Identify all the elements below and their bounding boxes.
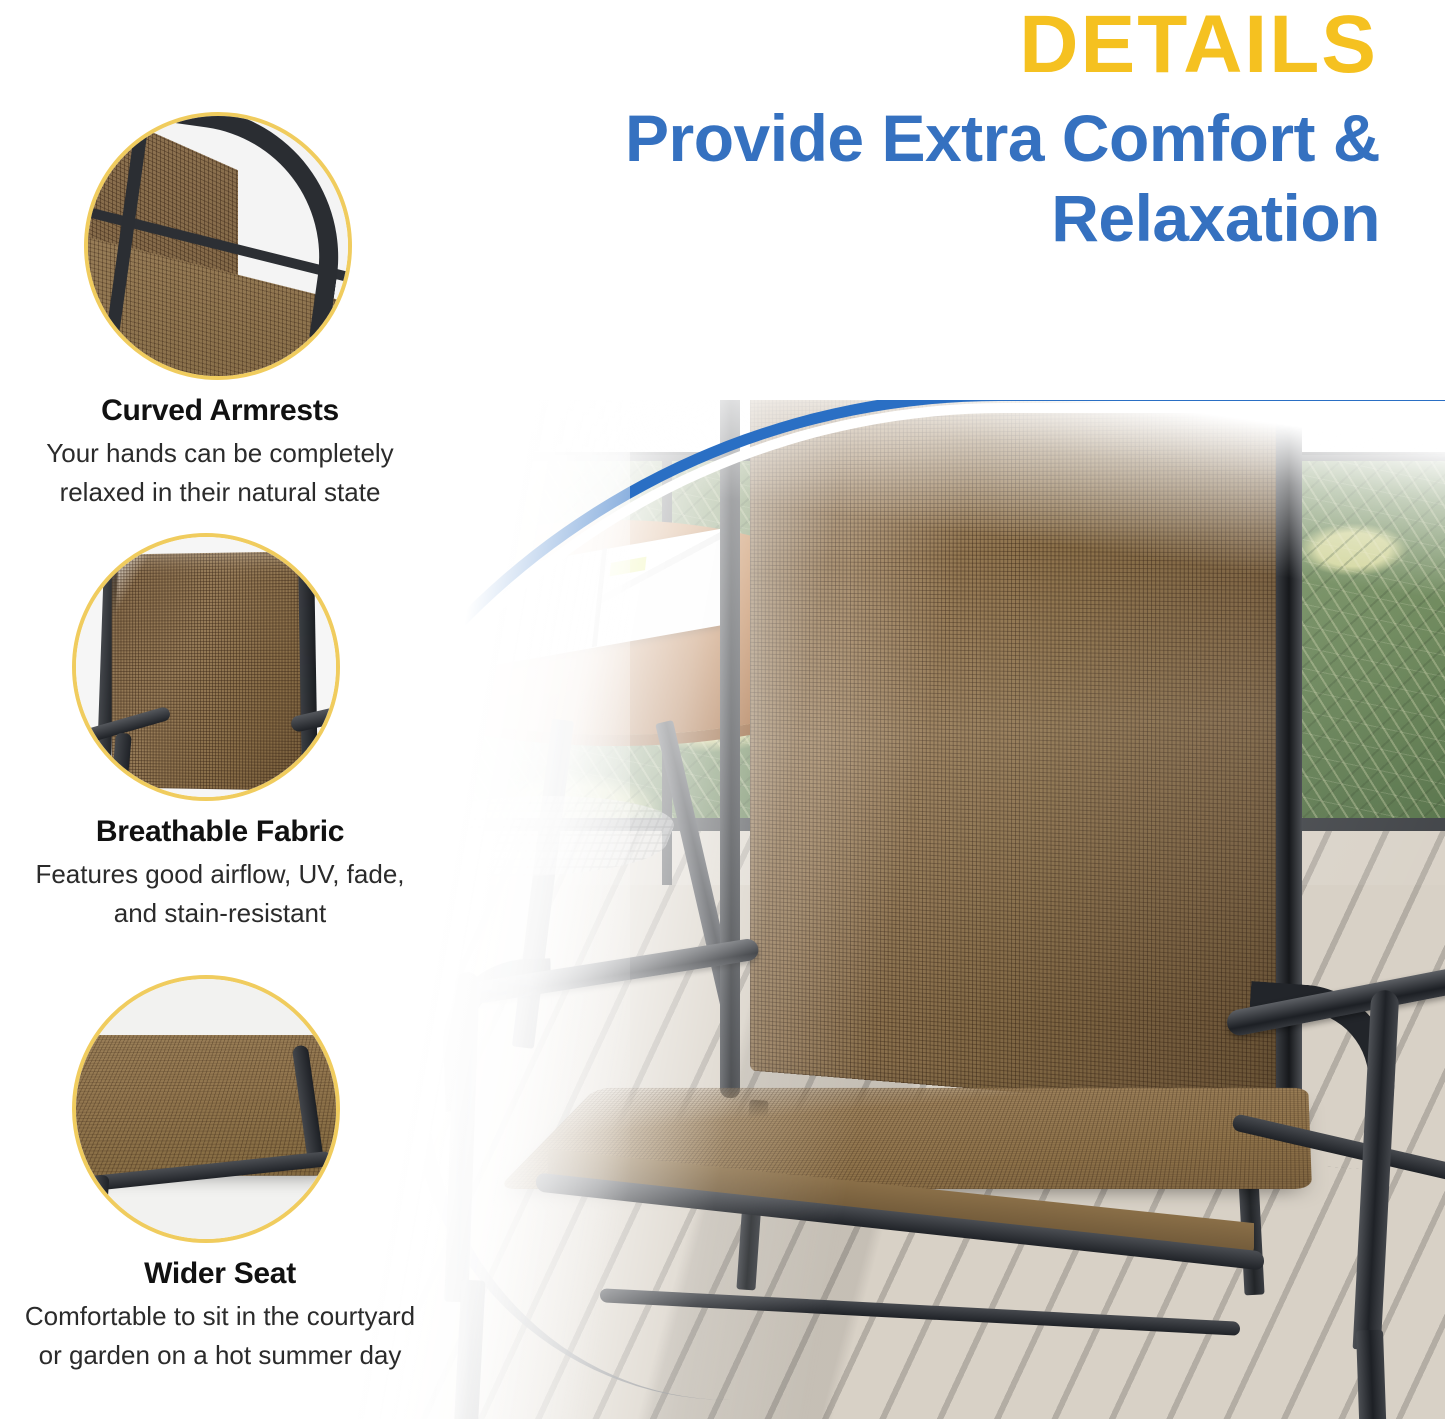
main-product-photo (300, 400, 1445, 1419)
feature-curved-armrests: Curved Armrests Your hands can be comple… (0, 112, 440, 512)
page-title-line-1: Provide Extra Comfort & (330, 98, 1380, 178)
page-title-line-2: Relaxation (330, 178, 1380, 258)
feature-3-desc-line-2: or garden on a hot summer day (39, 1340, 402, 1370)
feature-breathable-fabric: Breathable Fabric Features good airflow,… (0, 533, 440, 933)
page-title: Provide Extra Comfort & Relaxation (330, 98, 1410, 258)
patio-chair (300, 400, 1445, 1419)
feature-3-desc-line-1: Comfortable to sit in the courtyard (25, 1301, 415, 1331)
chair-cross-brace (600, 1288, 1240, 1336)
feature-3-description: Comfortable to sit in the courtyard or g… (0, 1297, 440, 1375)
fabric-closeup-icon (76, 537, 336, 797)
feature-2-title: Breathable Fabric (0, 815, 440, 849)
backrest-rail-left (720, 400, 740, 1098)
feature-1-image (84, 112, 352, 380)
seat-closeup-icon (76, 979, 336, 1239)
feature-wider-seat: Wider Seat Comfortable to sit in the cou… (0, 975, 440, 1375)
feature-2-image (72, 533, 340, 801)
feature-2-desc-line-1: Features good airflow, UV, fade, (35, 859, 404, 889)
backrest-closeup-sling (112, 551, 307, 790)
feature-1-title: Curved Armrests (0, 394, 440, 428)
armrest-closeup-icon (88, 116, 348, 376)
feature-1-desc-line-2: relaxed in their natural state (60, 477, 381, 507)
feature-1-desc-line-1: Your hands can be completely (46, 438, 393, 468)
feature-3-title: Wider Seat (0, 1257, 440, 1291)
feature-1-description: Your hands can be completely relaxed in … (0, 434, 440, 512)
chair-leg-front-right (1356, 1330, 1391, 1419)
armrest-curve-bar (94, 112, 352, 339)
feature-2-desc-line-2: and stain-resistant (114, 898, 326, 928)
headline-block: DETAILS Provide Extra Comfort & Relaxati… (330, 0, 1410, 290)
backrest-closeup-rail-right (298, 551, 318, 791)
backrest-sheen (750, 400, 1301, 1115)
eyebrow-heading: DETAILS (330, 0, 1410, 90)
feature-2-description: Features good airflow, UV, fade, and sta… (0, 855, 440, 933)
feature-3-image (72, 975, 340, 1243)
